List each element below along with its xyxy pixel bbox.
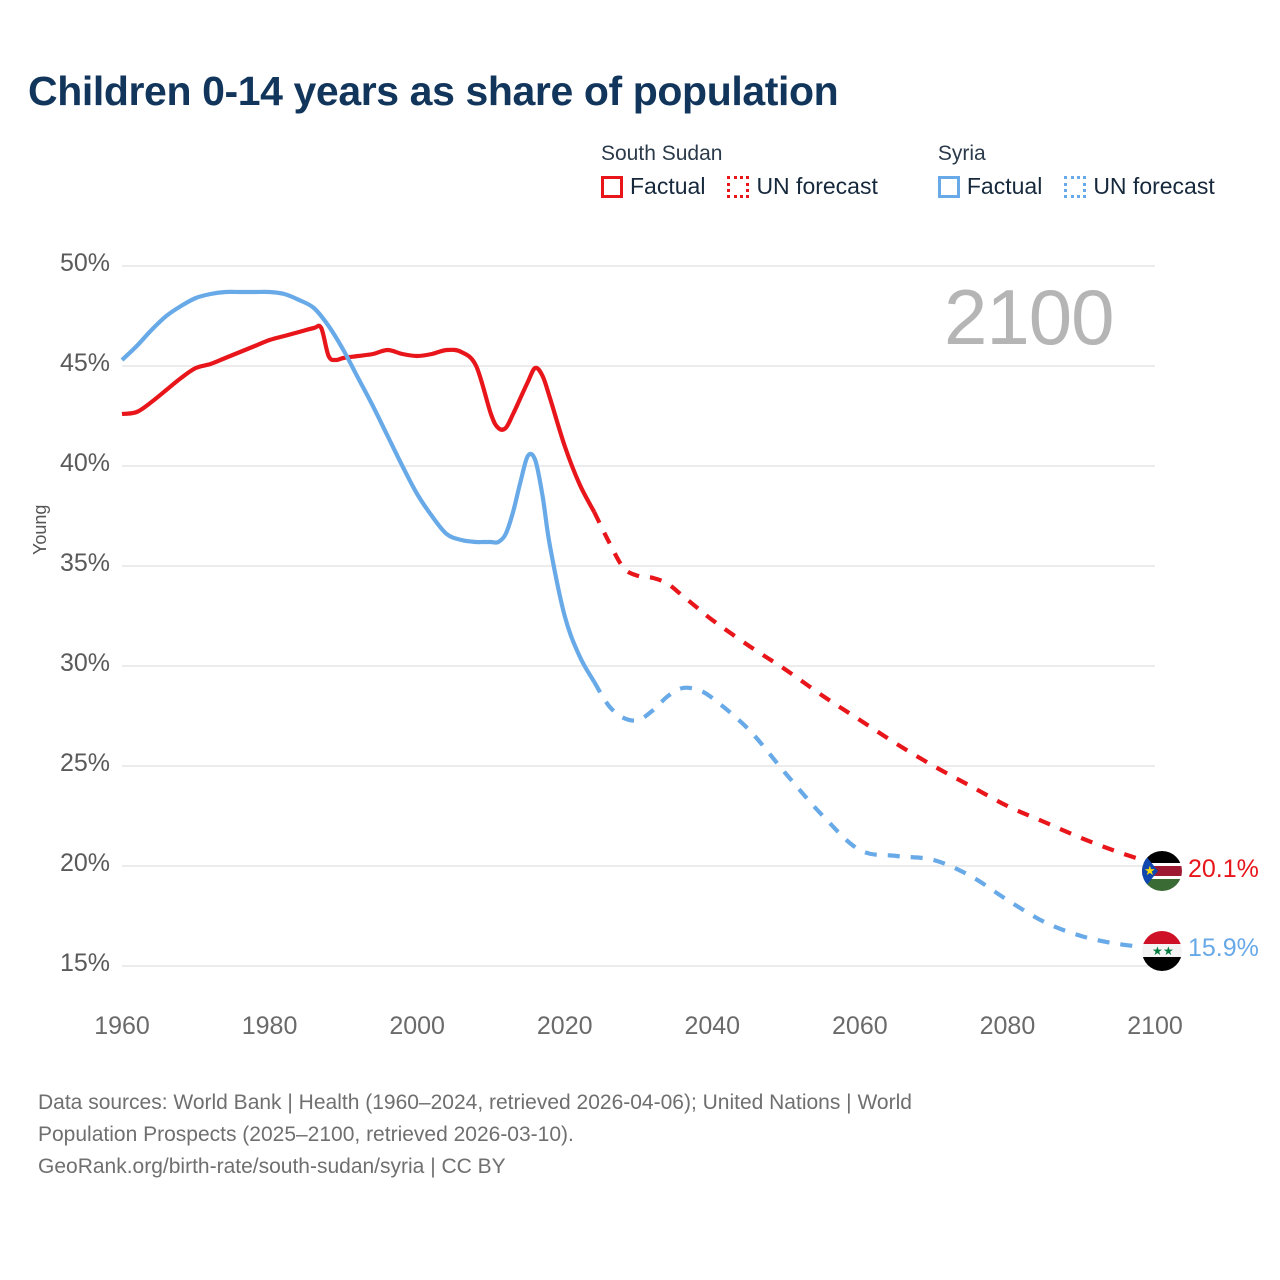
x-axis-tick-label: 2020	[510, 1012, 620, 1041]
x-axis-tick-label: 2100	[1100, 1012, 1210, 1041]
x-axis-tick-label: 1960	[67, 1012, 177, 1041]
footer-line-2: Population Prospects (2025–2100, retriev…	[38, 1119, 1188, 1151]
x-axis-tick-label: 1980	[215, 1012, 325, 1041]
y-axis-label: Young	[30, 505, 51, 555]
series-line-south-sudan-forecast	[594, 512, 1155, 864]
series-line-syria-factual	[122, 292, 594, 682]
x-axis-tick-label: 2060	[805, 1012, 915, 1041]
series-line-south-sudan-factual	[122, 326, 594, 512]
series-line-syria-forecast	[594, 682, 1155, 948]
syria-flag-icon: ★ ★	[1142, 931, 1182, 971]
south-sudan-flag-icon: ★	[1142, 851, 1182, 891]
footer-line-1: Data sources: World Bank | Health (1960–…	[38, 1087, 1188, 1119]
y-axis-tick-label: 20%	[0, 849, 110, 878]
end-label-syria: 15.9%	[1188, 934, 1259, 963]
y-axis-tick-label: 25%	[0, 749, 110, 778]
y-axis-tick-label: 15%	[0, 949, 110, 978]
year-watermark: 2100	[944, 272, 1114, 363]
x-axis-tick-label: 2000	[362, 1012, 472, 1041]
y-axis-tick-label: 30%	[0, 649, 110, 678]
footer-sources: Data sources: World Bank | Health (1960–…	[38, 1087, 1188, 1183]
footer-line-3: GeoRank.org/birth-rate/south-sudan/syria…	[38, 1151, 1188, 1183]
y-axis-tick-label: 45%	[0, 349, 110, 378]
x-axis-tick-label: 2040	[657, 1012, 767, 1041]
chart-page: Children 0-14 years as share of populati…	[0, 0, 1280, 1280]
end-label-south-sudan: 20.1%	[1188, 855, 1259, 884]
x-axis-tick-label: 2080	[952, 1012, 1062, 1041]
y-axis-tick-label: 35%	[0, 549, 110, 578]
series-lines	[122, 292, 1155, 948]
y-axis-tick-label: 50%	[0, 249, 110, 278]
gridlines	[122, 266, 1155, 966]
y-axis-tick-label: 40%	[0, 449, 110, 478]
